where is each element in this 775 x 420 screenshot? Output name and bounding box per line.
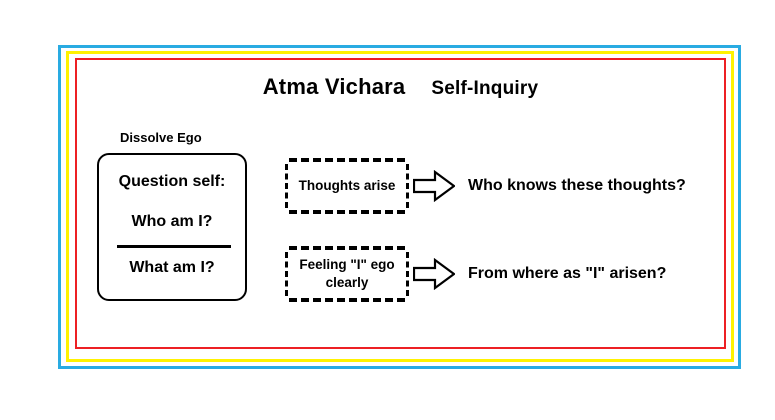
dashed-edge-right xyxy=(406,252,409,296)
dashed-edge-right xyxy=(406,164,409,208)
dashed-edge-left xyxy=(285,252,288,296)
title-main: Atma Vichara xyxy=(263,74,406,99)
question-who-am-i: Who am I? xyxy=(99,213,245,231)
right-block-arrow-icon xyxy=(413,258,455,290)
dashed-source-box: Thoughts arise xyxy=(283,158,411,214)
question-self-box: Question self: Who am I? What am I? xyxy=(97,153,247,301)
question-what-am-i: What am I? xyxy=(99,259,245,277)
dissolve-ego-label: Dissolve Ego xyxy=(120,130,202,145)
diagram-canvas: Atma VicharaSelf-Inquiry Dissolve Ego Qu… xyxy=(75,58,726,349)
answer-label: Who knows these thoughts? xyxy=(468,158,686,214)
page-title: Atma VicharaSelf-Inquiry xyxy=(75,74,726,100)
question-divider xyxy=(117,245,231,248)
source-label: Thoughts arise xyxy=(290,158,404,214)
title-sub: Self-Inquiry xyxy=(431,78,538,99)
right-block-arrow-icon xyxy=(413,170,455,202)
dashed-source-box: Feeling "I" ego clearly xyxy=(283,246,411,302)
source-label: Feeling "I" ego clearly xyxy=(290,246,404,302)
question-prompt: Question self: xyxy=(99,173,245,191)
answer-label: From where as "I" arisen? xyxy=(468,246,666,302)
dashed-edge-left xyxy=(285,164,288,208)
